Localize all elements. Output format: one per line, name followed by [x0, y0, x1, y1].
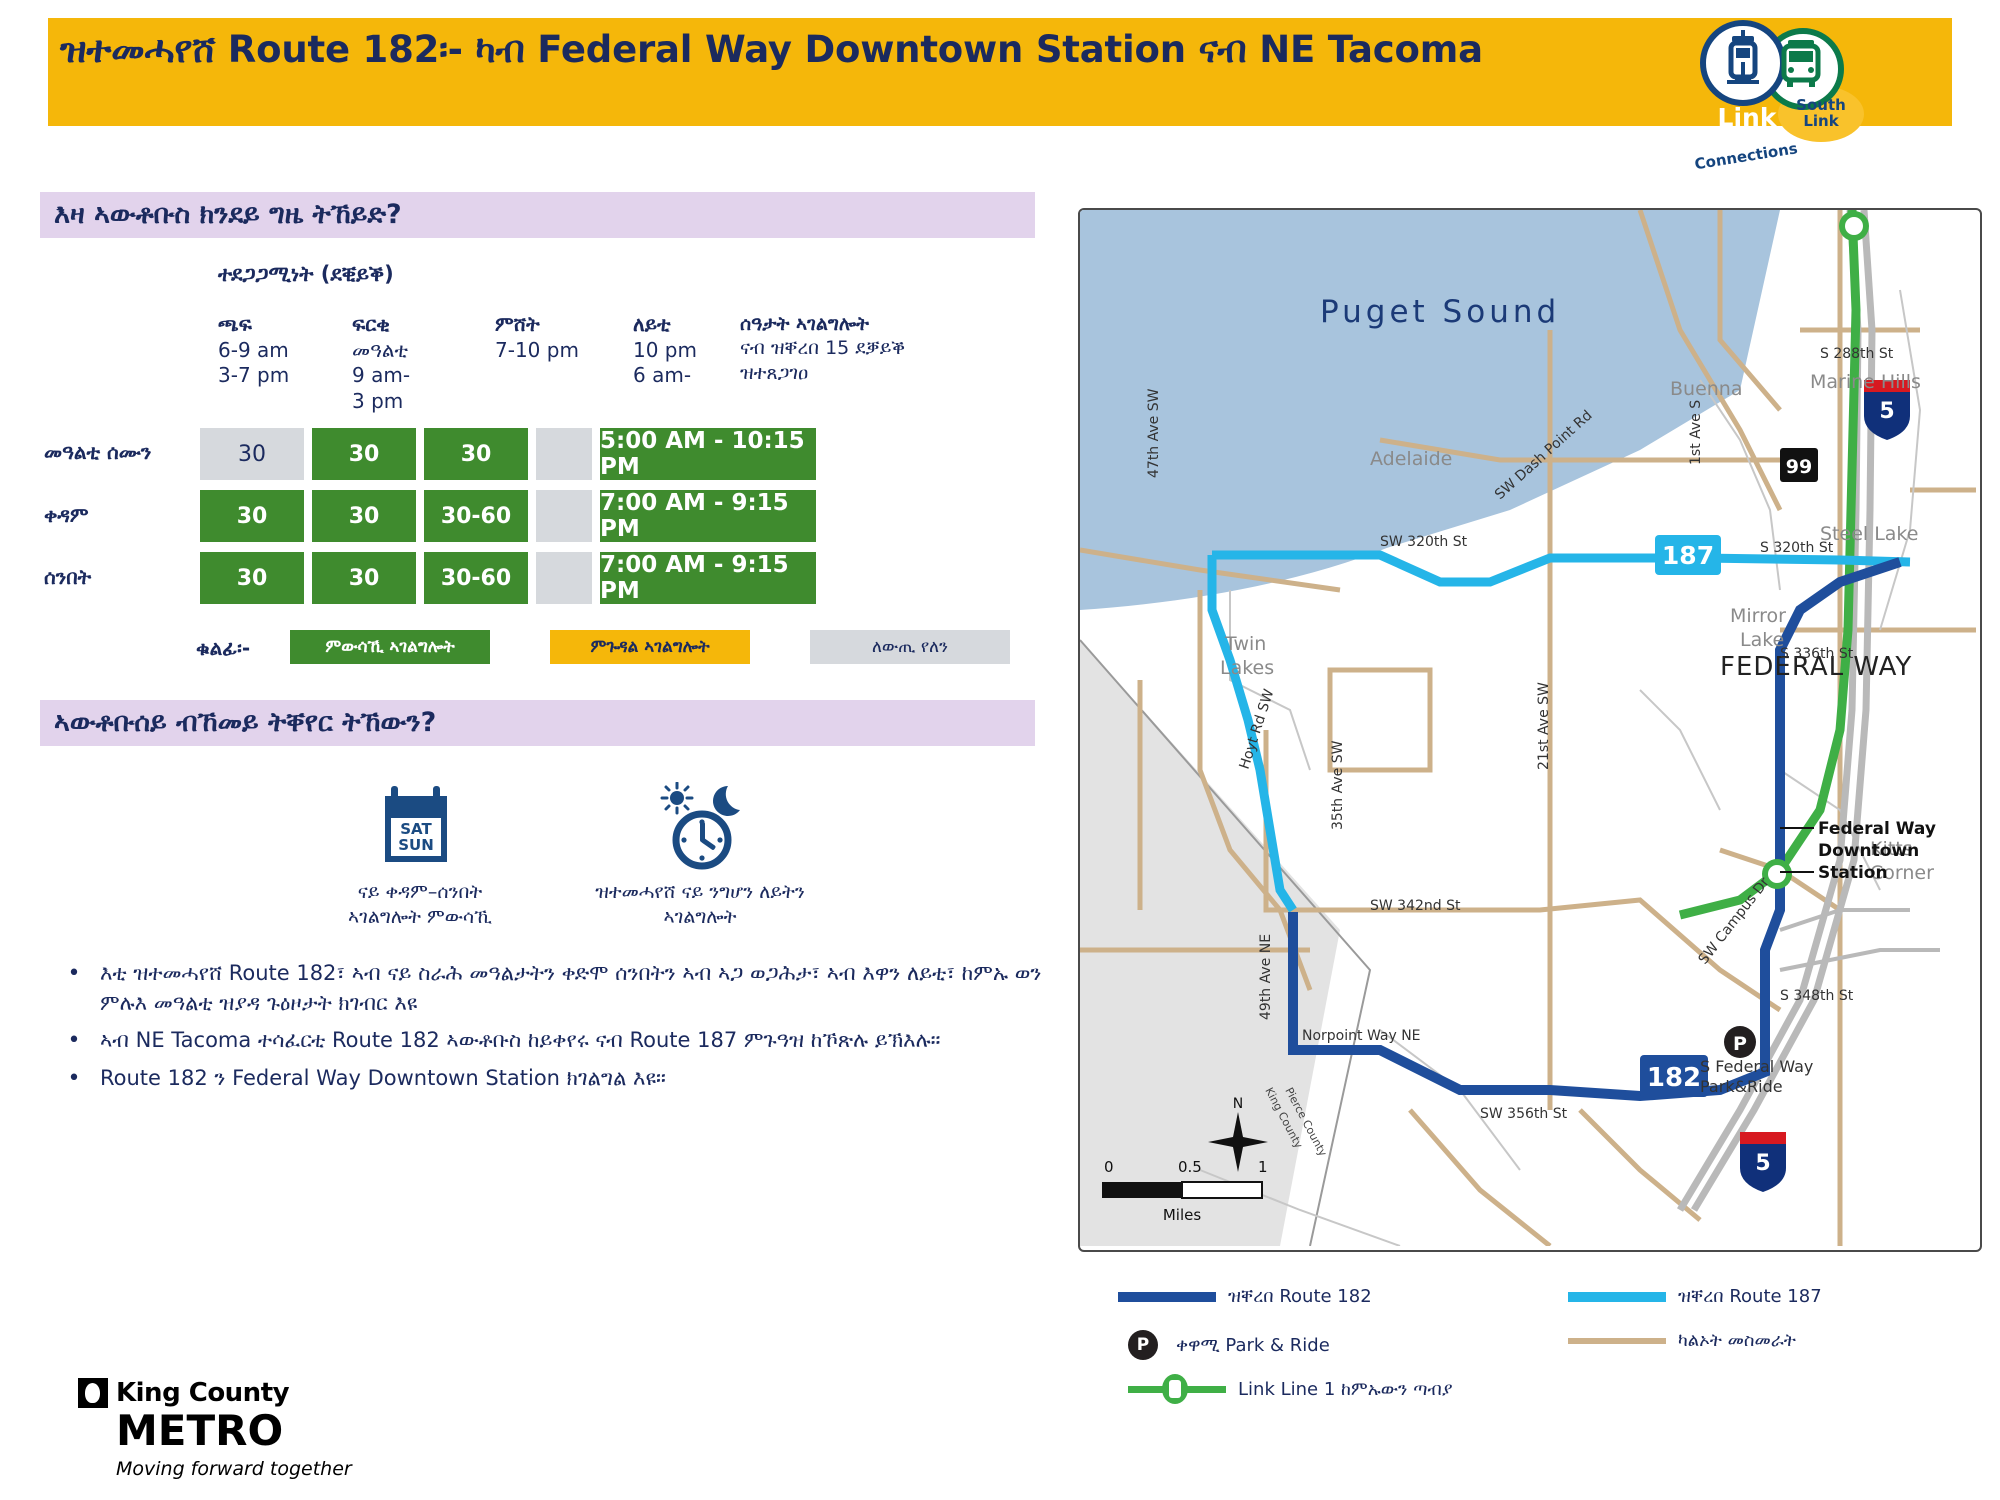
agency-name-line1: King County — [116, 1378, 289, 1408]
frequency-caption: ተደጋጋሚነት (ደቒይቕ) — [218, 262, 394, 287]
list-item-text: እቲ ዝተመሓየሸ Route 182፣ ኣብ ናይ ስራሕ መዓልታትን ቀድ… — [100, 958, 1048, 1019]
park-and-ride-icon: P — [1128, 1330, 1158, 1360]
svg-text:0.5: 0.5 — [1178, 1158, 1202, 1176]
schedule-cell — [536, 552, 592, 604]
schedule-cell: 7:00 AM - 9:15 PM — [600, 490, 816, 542]
schedule-cell: 5:00 AM - 10:15 PM — [600, 428, 816, 480]
legend-route-187: ዝቐረበ Route 187 — [1568, 1286, 1822, 1307]
flyer-page: ዝተመሓየሸ Route 182፡- ካብ Federal Way Downto… — [0, 0, 2000, 1500]
schedule-cell: 30-60 — [424, 490, 528, 542]
schedule-cell: 30 — [424, 428, 528, 480]
schedule-cell: 30 — [200, 490, 304, 542]
link-station-north — [1839, 211, 1869, 241]
schedule-section-title: እዛ ኣውቶቡስ ክንደይ ግዜ ትኸይድ? — [40, 199, 402, 231]
line-swatch-icon — [1118, 1292, 1216, 1302]
schedule-cell: 30 — [312, 490, 416, 542]
column-header-night: ለይቲ10 pm6 am- — [633, 312, 743, 389]
schedule-cell: 30 — [312, 552, 416, 604]
schedule-cell — [536, 490, 592, 542]
bullet-dot-icon: • — [48, 1025, 100, 1057]
svg-text:Station: Station — [1818, 863, 1888, 883]
park-and-ride-marker: P — [1724, 1026, 1756, 1058]
svg-text:Park&Ride: Park&Ride — [1700, 1077, 1783, 1096]
bullet-dot-icon: • — [48, 958, 100, 1019]
route-map[interactable]: Puget Sound King County Pierce County — [1078, 208, 1982, 1252]
svg-text:S Federal Way: S Federal Way — [1700, 1057, 1813, 1076]
legend-chip-no-change: ለውጢ የለን — [810, 630, 1010, 664]
legend-park-and-ride-label: ቀዋሚ Park & Ride — [1176, 1335, 1330, 1356]
svg-text:5: 5 — [1879, 399, 1894, 424]
link-station-icon — [1128, 1374, 1226, 1404]
king-county-metro-logo: King County METRO Moving forward togethe… — [78, 1378, 378, 1480]
schedule-cell: 30 — [312, 428, 416, 480]
svg-text:47th Ave SW: 47th Ave SW — [1146, 388, 1162, 478]
legend-park-and-ride: P ቀዋሚ Park & Ride — [1098, 1330, 1330, 1360]
line-swatch-icon — [1568, 1292, 1666, 1302]
link-connections-logo: Link South Link Connections — [1690, 14, 1860, 174]
column-header-span: ሰዓታት ኣገልግሎትናብ ዝቐረበ 15 ደቓይቕዝተጸጋገዐ — [740, 312, 990, 385]
schedule-cell: 30 — [200, 428, 304, 480]
svg-text:1: 1 — [1258, 1158, 1268, 1176]
svg-text:SUN: SUN — [398, 836, 434, 854]
schedule-cell: 7:00 AM - 9:15 PM — [600, 552, 816, 604]
schedule-cell: 30 — [200, 552, 304, 604]
agency-tagline: Moving forward together — [116, 1458, 378, 1480]
sun-moon-clock-icon — [560, 782, 840, 870]
list-item: •ኣብ NE Tacoma ተሳፈርቲ Route 182 ኣውቶቡስ ከይቀየ… — [48, 1025, 1048, 1057]
water-label: Puget Sound — [1320, 294, 1560, 330]
svg-text:Steel Lake: Steel Lake — [1820, 523, 1918, 545]
legend-chip-less-service: ምጉዳል ኣገልግሎት — [550, 630, 750, 664]
svg-text:Lakes: Lakes — [1220, 657, 1274, 679]
svg-text:S 336th St: S 336th St — [1780, 646, 1854, 662]
legend-key-label: ቁልፊ፡- — [196, 636, 250, 660]
legend-route-187-label: ዝቐረበ Route 187 — [1678, 1286, 1822, 1307]
svg-text:N: N — [1233, 1096, 1243, 1112]
map-legend: ዝቐረበ Route 182 P ቀዋሚ Park & Ride Link Li… — [1098, 1282, 1978, 1412]
svg-text:1st Ave S: 1st Ave S — [1688, 400, 1704, 465]
svg-text:Marine Hills: Marine Hills — [1810, 371, 1921, 393]
row-label-weekday: መዓልቲ ሰሙን — [44, 440, 151, 464]
svg-text:Buenna: Buenna — [1670, 378, 1743, 400]
legend-chip-more-service: ምውሳኺ ኣገልግሎት — [290, 630, 490, 664]
list-item: •Route 182 ን Federal Way Downtown Statio… — [48, 1063, 1048, 1095]
svg-text:SW 320th St: SW 320th St — [1380, 534, 1468, 550]
night-service-icon-block: ዝተመሓየሸ ናይ ንግሆን ለይትንኣገልግሎት — [560, 782, 840, 929]
svg-text:21st Ave SW: 21st Ave SW — [1536, 682, 1552, 770]
bullet-dot-icon: • — [48, 1063, 100, 1095]
agency-name-line2: METRO — [116, 1410, 378, 1452]
svg-text:35th Ave SW: 35th Ave SW — [1330, 740, 1346, 830]
column-header-midday: ፍርቂመዓልቲ9 am-3 pm — [352, 312, 472, 414]
list-item-text: Route 182 ን Federal Way Downtown Station… — [100, 1063, 1048, 1095]
weekend-service-caption: ናይ ቀዳም–ሰንበትኣገልግሎት ምውሳኺ — [300, 880, 540, 929]
svg-text:Lake: Lake — [1740, 629, 1784, 651]
svg-text:0: 0 — [1104, 1158, 1114, 1176]
interstate-shield-5-south: 5 — [1740, 1132, 1786, 1192]
svg-text:Twin: Twin — [1224, 633, 1266, 655]
list-item: •እቲ ዝተመሓየሸ Route 182፣ ኣብ ናይ ስራሕ መዓልታትን ቀ… — [48, 958, 1048, 1019]
svg-text:Miles: Miles — [1163, 1206, 1202, 1224]
route-shield-182: 182 — [1640, 1055, 1708, 1097]
row-label-saturday: ቀዳም — [44, 503, 89, 527]
svg-text:187: 187 — [1662, 541, 1714, 570]
bullet-list: •እቲ ዝተመሓየሸ Route 182፣ ኣብ ናይ ስራሕ መዓልታትን ቀ… — [48, 958, 1048, 1101]
column-header-evening: ምሸት7-10 pm — [495, 312, 635, 363]
svg-text:5: 5 — [1755, 1151, 1770, 1176]
calendar-sat-sun-icon: SAT SUN — [300, 782, 540, 870]
svg-text:S 320th St: S 320th St — [1760, 540, 1834, 556]
schedule-section-header: እዛ ኣውቶቡስ ክንደይ ግዜ ትኸይድ? — [40, 192, 1035, 238]
south-link-line2: Link — [1803, 114, 1838, 130]
weekend-service-icon-block: SAT SUN ናይ ቀዳም–ሰንበትኣገልግሎት ምውሳኺ — [300, 782, 540, 929]
svg-text:49th Ave NE: 49th Ave NE — [1258, 934, 1274, 1020]
svg-text:Federal Way: Federal Way — [1818, 819, 1936, 839]
state-route-shield-99: 99 — [1780, 448, 1818, 482]
legend-link-line-1-label: Link Line 1 ከምኡውን ጣብያ — [1238, 1379, 1453, 1400]
svg-text:S 348th St: S 348th St — [1780, 988, 1854, 1004]
map-canvas: Puget Sound King County Pierce County — [1080, 210, 1976, 1246]
svg-text:99: 99 — [1786, 456, 1812, 478]
king-county-mark-icon — [78, 1378, 108, 1408]
svg-text:Mirror: Mirror — [1730, 605, 1786, 627]
svg-text:182: 182 — [1647, 1063, 1701, 1093]
legend-other-routes: ካልኦት መስመራት — [1568, 1330, 1796, 1351]
schedule-cell: 30-60 — [424, 552, 528, 604]
line-swatch-icon — [1568, 1338, 1666, 1344]
route-shield-187: 187 — [1655, 535, 1721, 575]
svg-text:SW 356th St: SW 356th St — [1480, 1106, 1568, 1122]
legend-other-routes-label: ካልኦት መስመራት — [1678, 1330, 1796, 1351]
legend-route-182: ዝቐረበ Route 182 — [1118, 1286, 1372, 1307]
svg-text:Downtown: Downtown — [1818, 841, 1919, 861]
page-title: ዝተመሓየሸ Route 182፡- ካብ Federal Way Downto… — [60, 28, 1620, 72]
legend-route-182-label: ዝቐረበ Route 182 — [1228, 1286, 1372, 1307]
night-service-caption: ዝተመሓየሸ ናይ ንግሆን ለይትንኣገልግሎት — [560, 880, 840, 929]
legend-link-line-1: Link Line 1 ከምኡውን ጣብያ — [1098, 1374, 1453, 1404]
svg-text:P: P — [1733, 1033, 1747, 1055]
column-header-peak: ጫፍ6-9 am3-7 pm — [218, 312, 338, 389]
row-label-sunday: ሰንበት — [44, 565, 91, 589]
svg-text:Norpoint Way NE: Norpoint Way NE — [1302, 1028, 1421, 1044]
svg-text:S 288th St: S 288th St — [1820, 346, 1894, 362]
changes-section-title: ኣውቶቡሰይ ብኸመይ ትቐየር ትኸውን? — [40, 707, 436, 739]
schedule-cell — [536, 428, 592, 480]
changes-section-header: ኣውቶቡሰይ ብኸመይ ትቐየር ትኸውን? — [40, 700, 1035, 746]
svg-text:SW 342nd St: SW 342nd St — [1370, 898, 1461, 914]
svg-text:Adelaide: Adelaide — [1370, 448, 1452, 470]
list-item-text: ኣብ NE Tacoma ተሳፈርቲ Route 182 ኣውቶቡስ ከይቀየሩ… — [100, 1025, 1048, 1057]
south-link-label: South Link — [1778, 88, 1864, 140]
